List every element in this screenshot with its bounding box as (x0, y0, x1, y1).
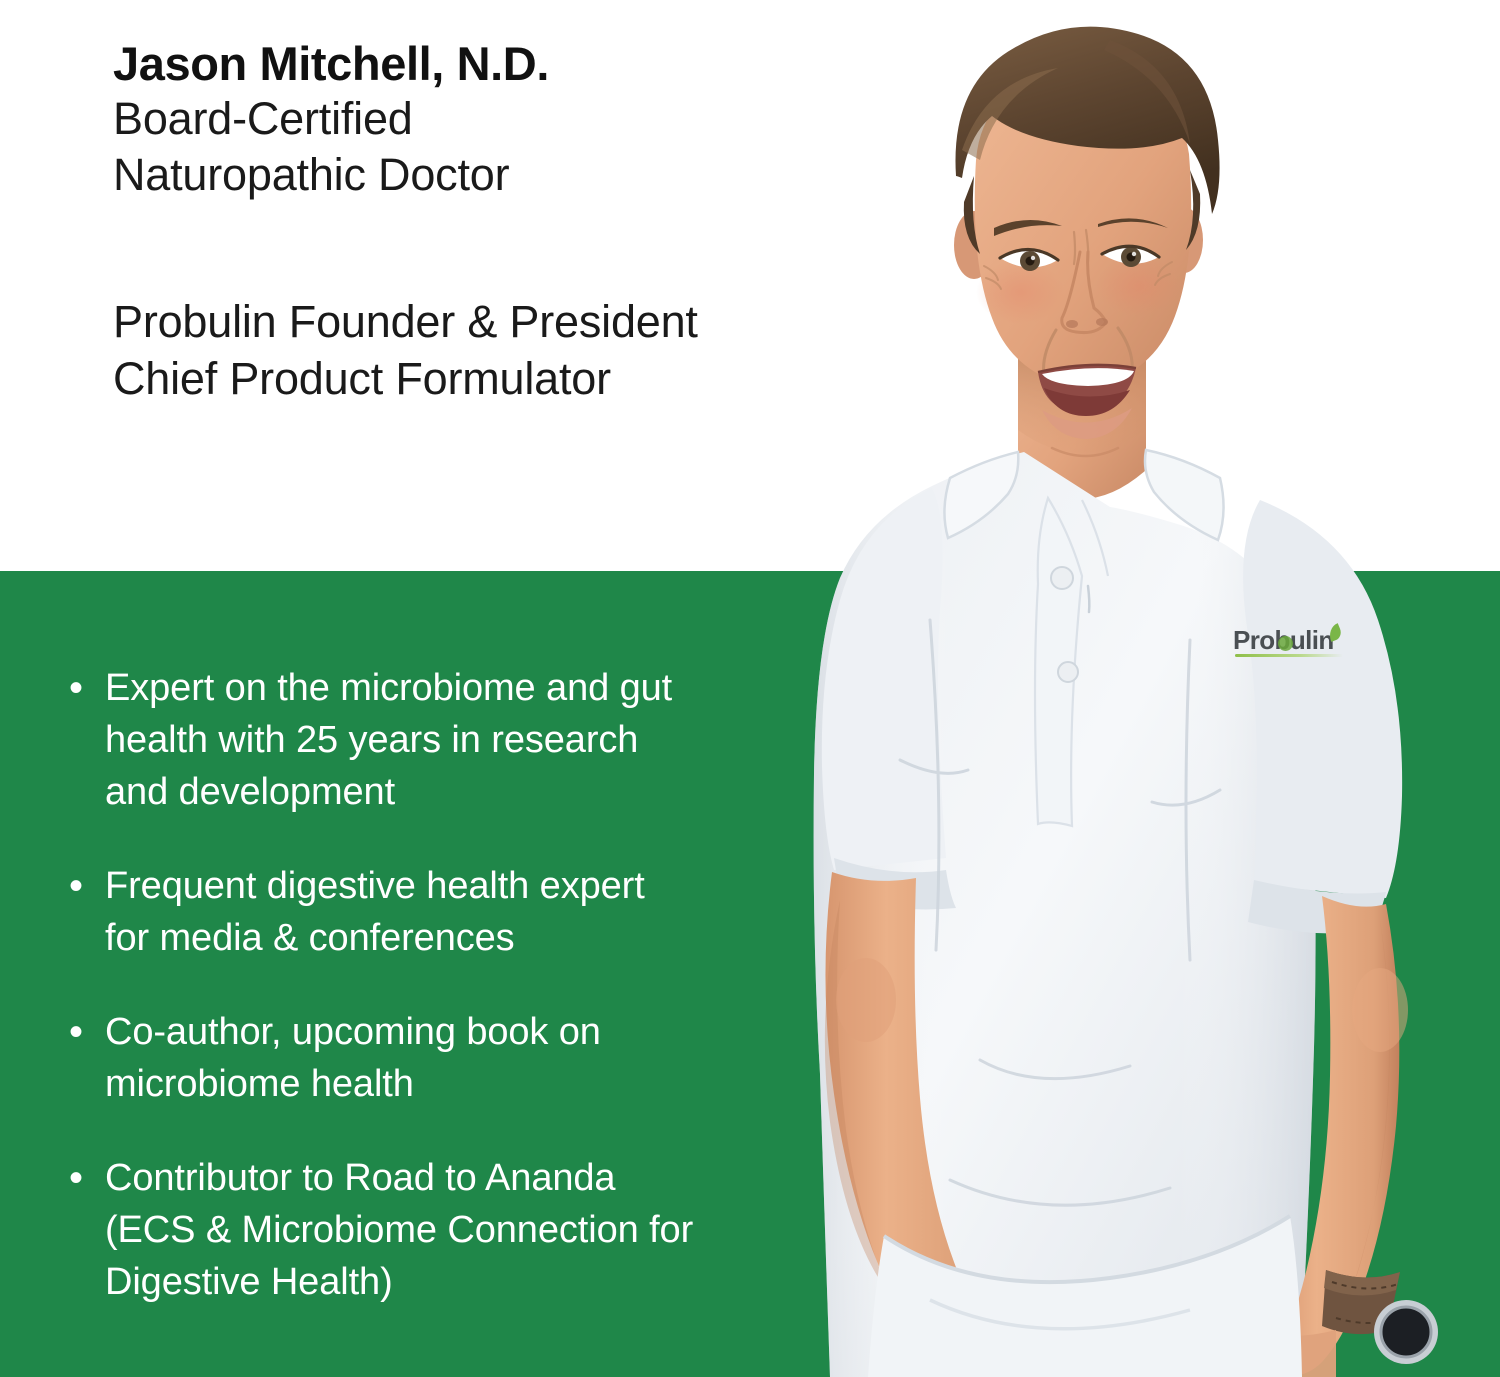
credential-line-2: Naturopathic Doctor (113, 147, 913, 204)
list-item-text: Contributor to Road to Ananda (ECS & Mic… (105, 1152, 823, 1308)
role-line-2: Chief Product Formulator (113, 351, 953, 408)
name-and-credentials: Jason Mitchell, N.D. Board-Certified Nat… (113, 38, 913, 204)
promo-card: Probulin Jason Mitchell, N.D. Board-Cert… (0, 0, 1500, 1377)
list-item: • Expert on the microbiome and gut healt… (63, 662, 823, 818)
bullet-marker-icon: • (63, 662, 105, 714)
list-item: • Contributor to Road to Ananda (ECS & M… (63, 1152, 823, 1308)
list-item-text: Expert on the microbiome and gut health … (105, 662, 823, 818)
bullet-marker-icon: • (63, 860, 105, 912)
credentials-bullet-list: • Expert on the microbiome and gut healt… (63, 662, 823, 1308)
list-item-text: Co-author, upcoming book on microbiome h… (105, 1006, 823, 1110)
credential-line-1: Board-Certified (113, 91, 913, 148)
portrait-photo (780, 0, 1500, 1377)
list-item: • Frequent digestive health expert for m… (63, 860, 823, 964)
bullet-marker-icon: • (63, 1006, 105, 1058)
role-titles: Probulin Founder & President Chief Produ… (113, 294, 953, 407)
list-item-text: Frequent digestive health expert for med… (105, 860, 823, 964)
page-title: Jason Mitchell, N.D. (113, 38, 913, 91)
bullet-marker-icon: • (63, 1152, 105, 1204)
role-line-1: Probulin Founder & President (113, 294, 953, 351)
list-item: • Co-author, upcoming book on microbiome… (63, 1006, 823, 1110)
